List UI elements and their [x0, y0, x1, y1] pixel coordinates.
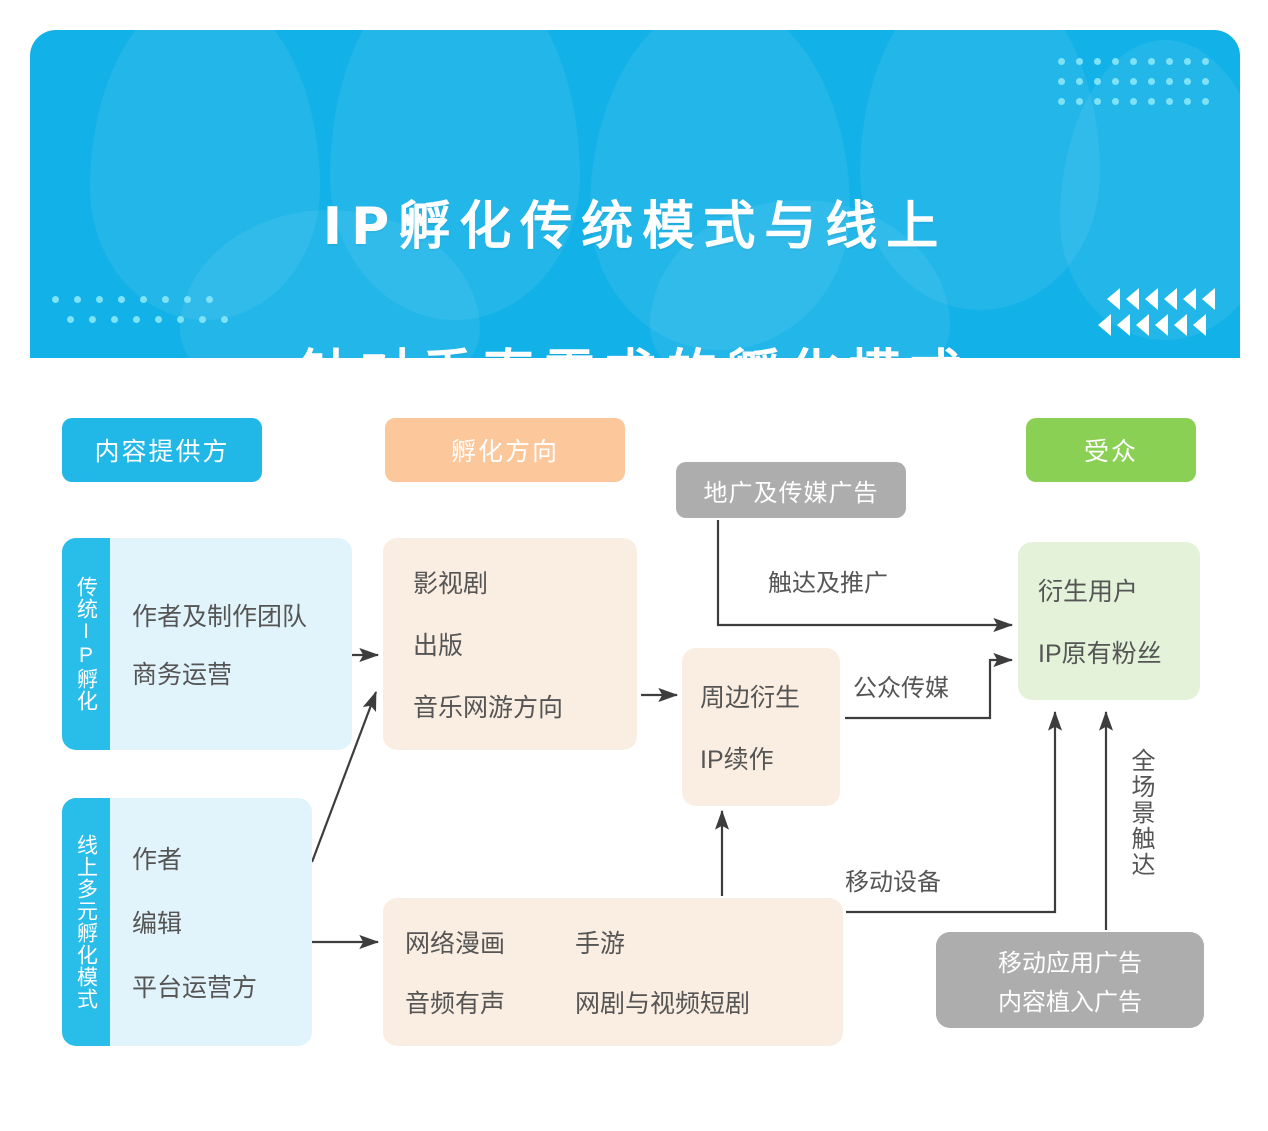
left-triangle-icon — [1164, 288, 1177, 310]
legend-chip-incubation-direction[interactable]: 孵化方向 — [385, 418, 625, 482]
dot-icon — [1166, 78, 1173, 85]
dot-grid-top-right-icon — [1058, 58, 1220, 118]
dot-icon — [133, 316, 140, 323]
dot-icon — [177, 316, 184, 323]
list-item: 网络漫画 — [405, 924, 575, 960]
node-traditional-tab-label: 传统IP孵化 — [62, 538, 110, 750]
dot-icon — [1148, 58, 1155, 65]
node-online-items: 作者 编辑 平台运营方 — [110, 798, 312, 1046]
list-item: 周边衍生 — [700, 678, 840, 714]
table-row: 音频有声 网剧与视频短剧 — [405, 984, 843, 1020]
list-item: 音频有声 — [405, 984, 575, 1020]
dot-icon — [96, 296, 103, 303]
dot-icon — [162, 296, 169, 303]
dot-icon — [1184, 58, 1191, 65]
dot-icon — [199, 316, 206, 323]
left-triangle-icon — [1183, 288, 1196, 310]
left-triangle-icon — [1202, 288, 1215, 310]
dot-icon — [1166, 98, 1173, 105]
edge-label-public-media: 公众传媒 — [849, 668, 953, 703]
edge-label-reach-and-promote: 触达及推广 — [764, 563, 892, 598]
list-item: 出版 — [413, 626, 637, 662]
list-item: 商务运营 — [132, 655, 352, 691]
left-triangle-icon — [1174, 314, 1187, 336]
list-item: 音乐网游方向 — [413, 688, 637, 724]
dot-icon — [1076, 78, 1083, 85]
dot-icon — [74, 296, 81, 303]
dot-icon — [1094, 78, 1101, 85]
dot-icon — [1112, 58, 1119, 65]
node-traditional-ip-incubation[interactable]: 传统IP孵化 作者及制作团队 商务运营 — [62, 538, 352, 750]
dot-icon — [1076, 58, 1083, 65]
dot-icon — [1130, 98, 1137, 105]
dot-icon — [111, 316, 118, 323]
dot-icon — [1184, 78, 1191, 85]
header-banner: IP孵化传统模式与线上 针对垂直需求的孵化模式 — [30, 30, 1240, 358]
dot-icon — [52, 296, 59, 303]
infographic-canvas: IP孵化传统模式与线上 针对垂直需求的孵化模式 — [0, 0, 1268, 1131]
dot-icon — [1094, 98, 1101, 105]
page-title-line-1: IP孵化传统模式与线上 — [30, 190, 1240, 264]
dot-icon — [206, 296, 213, 303]
dot-icon — [155, 316, 162, 323]
left-triangle-icon — [1126, 288, 1139, 310]
list-item: 移动应用广告 — [998, 943, 1142, 978]
dot-icon — [1148, 78, 1155, 85]
dot-icon — [221, 316, 228, 323]
dot-icon — [1184, 98, 1191, 105]
legend-chip-audience[interactable]: 受众 — [1026, 418, 1196, 482]
table-row: 网络漫画 手游 — [405, 924, 843, 960]
node-online-multi-incubation[interactable]: 线上多元孵化模式 作者 编辑 平台运营方 — [62, 798, 312, 1046]
node-traditional-items: 作者及制作团队 商务运营 — [110, 538, 352, 750]
list-item: 手游 — [575, 924, 625, 960]
legend-chip-content-provider[interactable]: 内容提供方 — [62, 418, 262, 482]
left-triangle-icon — [1136, 314, 1149, 336]
edge-label-mobile-device: 移动设备 — [841, 862, 945, 897]
dot-icon — [118, 296, 125, 303]
dot-icon — [1112, 98, 1119, 105]
list-item: 网剧与视频短剧 — [575, 984, 750, 1020]
triangle-arrows-icon — [1107, 288, 1215, 340]
node-audience-users[interactable]: 衍生用户 IP原有粉丝 — [1018, 542, 1200, 700]
left-triangle-icon — [1145, 288, 1158, 310]
dot-icon — [1058, 98, 1065, 105]
list-item: 平台运营方 — [132, 968, 312, 1004]
dot-icon — [1202, 78, 1209, 85]
dot-grid-bottom-left-icon — [52, 296, 243, 336]
dot-icon — [1166, 58, 1173, 65]
dot-icon — [1202, 58, 1209, 65]
page-title-line-2: 针对垂直需求的孵化模式 — [30, 338, 1240, 358]
dot-icon — [1130, 78, 1137, 85]
edge-label-all-scene-reach: 全场景触达 — [1120, 748, 1160, 878]
node-broadcast-media-ad[interactable]: 地广及传媒广告 — [676, 462, 906, 518]
list-item: IP原有粉丝 — [1038, 634, 1200, 670]
dot-icon — [140, 296, 147, 303]
dot-icon — [1094, 58, 1101, 65]
dot-icon — [1076, 98, 1083, 105]
node-derivative-works[interactable]: 周边衍生 IP续作 — [682, 648, 840, 806]
dot-icon — [1058, 78, 1065, 85]
left-triangle-icon — [1193, 314, 1206, 336]
dot-icon — [1130, 58, 1137, 65]
node-online-tab-label: 线上多元孵化模式 — [62, 798, 110, 1046]
dot-icon — [1112, 78, 1119, 85]
list-item: 编辑 — [132, 904, 312, 940]
list-item: 内容植入广告 — [998, 982, 1142, 1017]
left-triangle-icon — [1155, 314, 1168, 336]
list-item: IP续作 — [700, 740, 840, 776]
dot-icon — [67, 316, 74, 323]
node-mobile-app-ad[interactable]: 移动应用广告 内容植入广告 — [936, 932, 1204, 1028]
list-item: 衍生用户 — [1038, 572, 1200, 608]
dot-icon — [184, 296, 191, 303]
dot-icon — [1148, 98, 1155, 105]
dot-icon — [1202, 98, 1209, 105]
node-direction-online[interactable]: 网络漫画 手游 音频有声 网剧与视频短剧 — [383, 898, 843, 1046]
list-item: 作者及制作团队 — [132, 597, 352, 633]
list-item: 作者 — [132, 840, 312, 876]
left-triangle-icon — [1107, 288, 1120, 310]
left-triangle-icon — [1098, 314, 1111, 336]
dot-icon — [89, 316, 96, 323]
list-item: 影视剧 — [413, 564, 637, 600]
dot-icon — [1058, 58, 1065, 65]
left-triangle-icon — [1117, 314, 1130, 336]
node-direction-traditional[interactable]: 影视剧 出版 音乐网游方向 — [383, 538, 637, 750]
